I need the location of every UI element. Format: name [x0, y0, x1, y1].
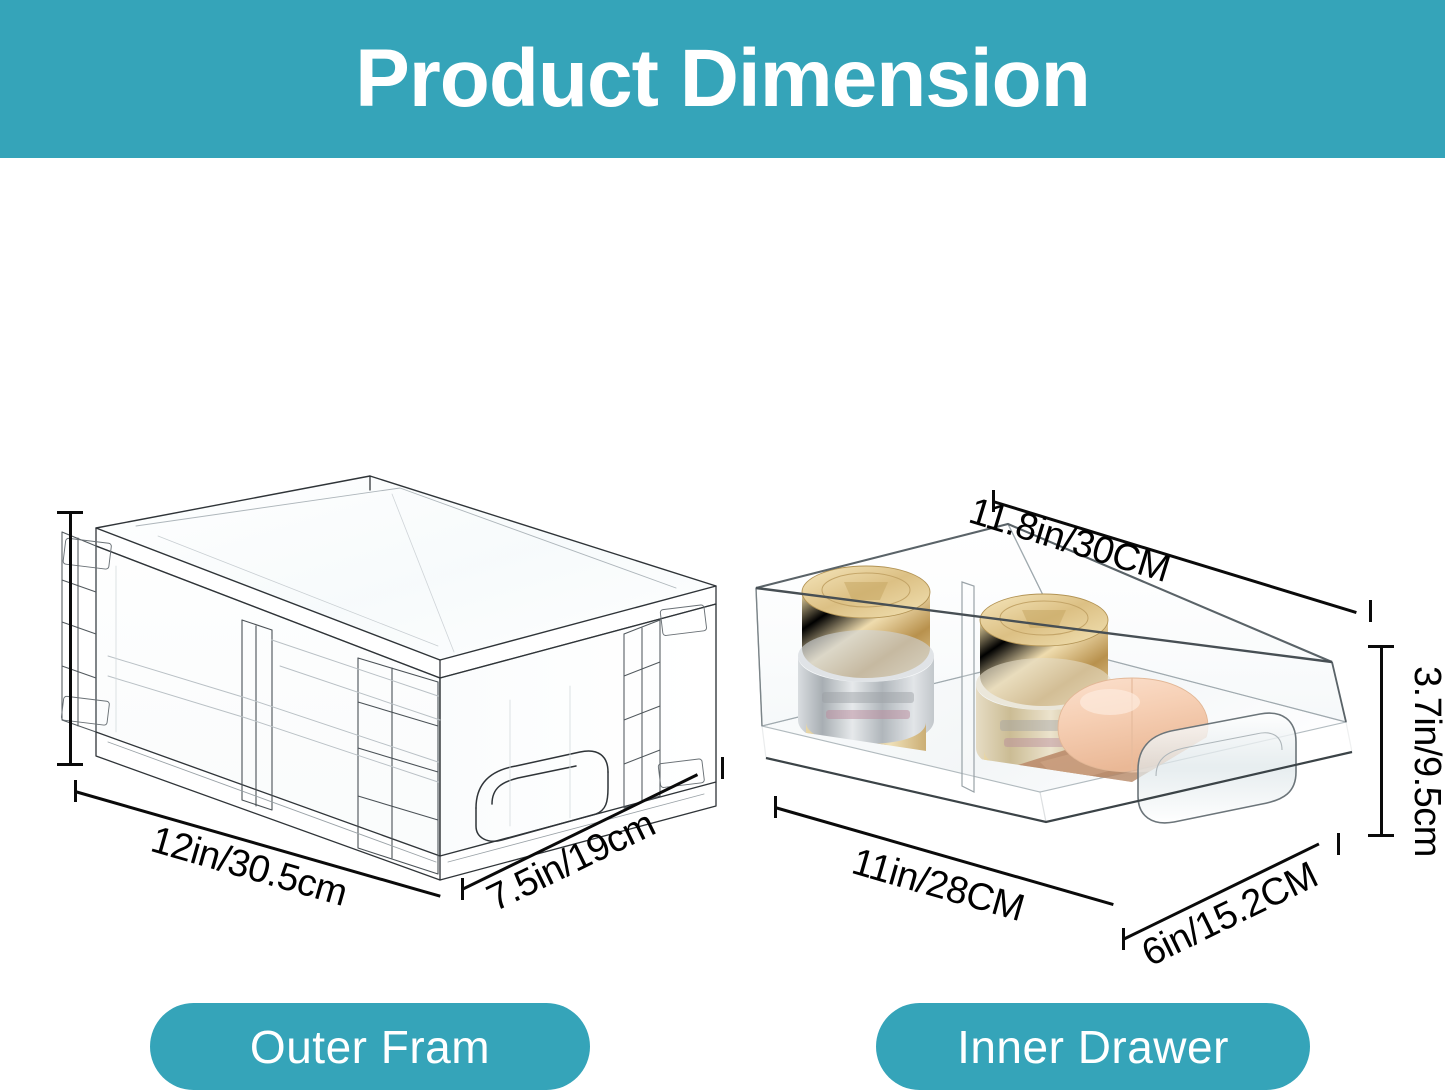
inner-height-cap-top	[1368, 645, 1394, 648]
outer-frame-pill-label: Outer Fram	[150, 1003, 590, 1090]
outer-height-cap-bottom	[57, 763, 83, 766]
inner-drawer-pill-label: Inner Drawer	[876, 1003, 1310, 1090]
product-dimension-infographic: Product Dimension	[0, 0, 1445, 1091]
outer-height-cap-top	[57, 511, 83, 514]
header-banner: Product Dimension	[0, 0, 1445, 158]
outer-width-cap-left	[74, 780, 77, 802]
inner-depth-cap-left	[1122, 928, 1125, 950]
outer-depth-cap-left	[461, 878, 464, 900]
inner-depth-cap-right	[1337, 833, 1340, 855]
inner-height-label: 3.7in/9.5cm	[1405, 666, 1445, 857]
outer-height-label: 4.4in/11.2cm	[0, 565, 8, 774]
inner-height-cap-bottom	[1368, 834, 1394, 837]
inner-length-cap-left	[774, 796, 777, 818]
inner-height-dimension-line	[1380, 646, 1383, 836]
page-title: Product Dimension	[355, 38, 1090, 120]
inner-width-cap-right	[1369, 600, 1372, 622]
outer-height-dimension-line	[69, 512, 72, 764]
outer-depth-cap-right	[721, 757, 724, 779]
